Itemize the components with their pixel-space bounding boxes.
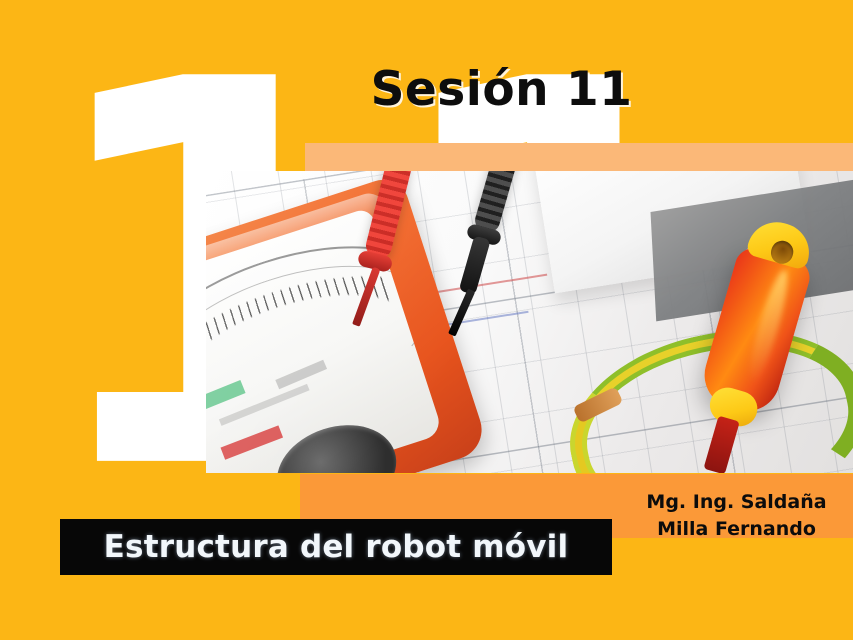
cover-photo bbox=[206, 171, 853, 473]
multimeter-red-marker bbox=[220, 426, 282, 460]
presentation-slide: 11 bbox=[0, 0, 853, 640]
accent-band-peach bbox=[305, 143, 853, 172]
author-line-2: Milla Fernando bbox=[620, 516, 853, 543]
cover-photo-inner bbox=[206, 171, 853, 473]
subtitle-bar: Estructura del robot móvil bbox=[60, 519, 612, 575]
author-block: Mg. Ing. Saldaña Milla Fernando bbox=[620, 489, 853, 543]
screwdriver-shaft bbox=[703, 416, 740, 473]
subtitle-text: Estructura del robot móvil bbox=[104, 529, 569, 565]
author-line-1: Mg. Ing. Saldaña bbox=[620, 489, 853, 516]
page-title: Sesión 11 bbox=[0, 62, 853, 118]
